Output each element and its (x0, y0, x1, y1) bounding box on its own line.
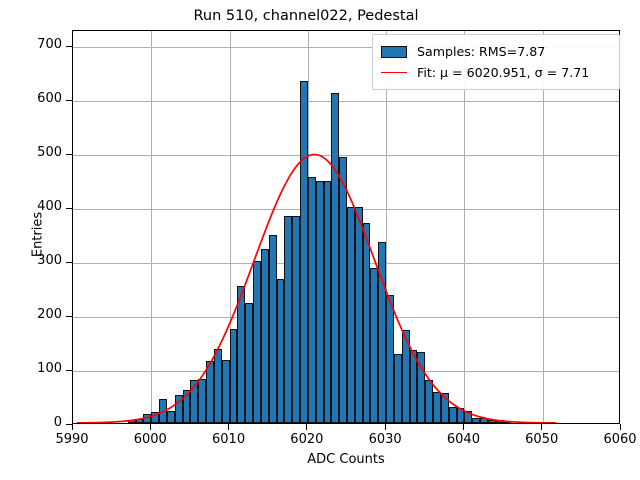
y-tick-label: 500 (18, 145, 62, 160)
x-tick-label: 6030 (355, 432, 415, 447)
x-tick-label: 6020 (277, 432, 337, 447)
y-tick-label: 100 (18, 361, 62, 376)
y-tick-mark (66, 262, 72, 263)
x-tick-label: 6040 (433, 432, 493, 447)
y-tick-mark (66, 316, 72, 317)
legend-label-fit: Fit: μ = 6020.951, σ = 7.71 (417, 65, 589, 80)
x-tick-mark (72, 424, 73, 430)
chart-title: Run 510, channel022, Pedestal (0, 8, 626, 24)
x-tick-label: 6010 (199, 432, 259, 447)
y-tick-mark (66, 46, 72, 47)
x-tick-mark (620, 424, 621, 430)
y-tick-label: 700 (18, 37, 62, 52)
x-tick-mark (228, 424, 229, 430)
legend-label-samples: Samples: RMS=7.87 (417, 44, 545, 59)
x-tick-mark (306, 424, 307, 430)
chart-legend: Samples: RMS=7.87 Fit: μ = 6020.951, σ =… (372, 34, 620, 90)
legend-item-samples: Samples: RMS=7.87 (381, 41, 611, 62)
x-tick-mark (385, 424, 386, 430)
y-tick-label: 200 (18, 307, 62, 322)
x-tick-mark (463, 424, 464, 430)
x-tick-label: 6060 (590, 432, 640, 447)
y-tick-mark (66, 208, 72, 209)
x-tick-label: 6050 (512, 432, 572, 447)
y-tick-mark (66, 370, 72, 371)
x-tick-mark (150, 424, 151, 430)
y-axis-label: Entries (31, 175, 46, 295)
legend-swatch-samples (381, 46, 407, 58)
x-tick-label: 5990 (42, 432, 102, 447)
legend-swatch-fit (381, 72, 407, 73)
x-tick-mark (541, 424, 542, 430)
y-tick-label: 0 (18, 415, 62, 430)
legend-item-fit: Fit: μ = 6020.951, σ = 7.71 (381, 62, 611, 83)
y-tick-mark (66, 154, 72, 155)
y-tick-mark (66, 100, 72, 101)
x-axis-label: ADC Counts (72, 452, 620, 467)
matplotlib-figure: Run 510, channel022, Pedestal 0100200300… (0, 0, 640, 480)
y-tick-label: 600 (18, 91, 62, 106)
x-tick-label: 6000 (120, 432, 180, 447)
